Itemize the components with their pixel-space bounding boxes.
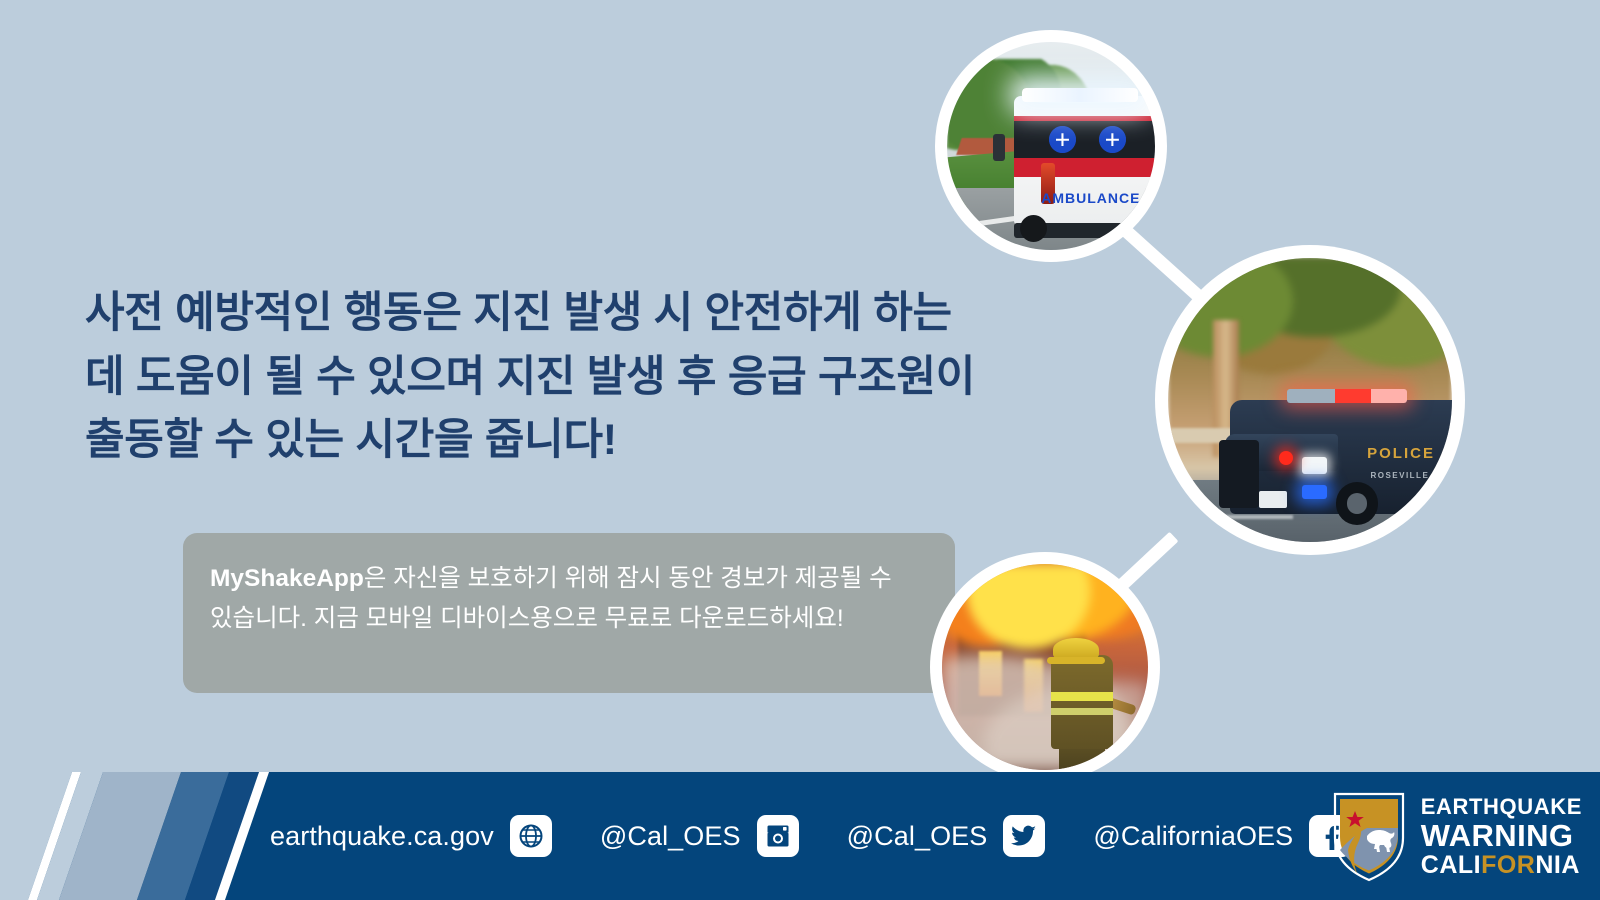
photo-circle-ambulance: AMBULANCE xyxy=(935,30,1167,262)
twitter-icon[interactable] xyxy=(1003,815,1045,857)
star-of-life-icon xyxy=(1099,126,1126,153)
police-label: POLICE xyxy=(1367,445,1435,462)
photo-circle-firefighter xyxy=(930,552,1160,782)
police-photo: POLICE ROSEVILLE xyxy=(1168,258,1452,542)
app-name: MyShakeApp xyxy=(210,565,364,592)
ambulance-wheel xyxy=(1020,215,1047,242)
spacer xyxy=(568,836,584,837)
logo-cali: CALI xyxy=(1421,851,1481,879)
ambulance-mirror xyxy=(993,134,1005,161)
photo-circle-police: POLICE ROSEVILLE xyxy=(1155,245,1465,555)
poster-canvas: 사전 예방적인 행동은 지진 발생 시 안전하게 하는 데 도움이 될 수 있으… xyxy=(0,0,1600,900)
ambulance-label: AMBULANCE xyxy=(1041,190,1140,206)
footer-handle-instagram[interactable]: @Cal_OES xyxy=(600,821,741,852)
firefighter-jacket xyxy=(1051,655,1113,750)
ambulance-rear-doors xyxy=(1014,121,1155,158)
footer-handle-twitter[interactable]: @Cal_OES xyxy=(847,821,988,852)
police-license-plate xyxy=(1259,491,1287,508)
earthquake-warning-california-logo: EARTHQUAKE WARNING CALIFORNIA xyxy=(1331,786,1582,888)
police-blue-flasher xyxy=(1302,485,1328,499)
police-headlight xyxy=(1302,457,1328,474)
footer-bar: earthquake.ca.gov @Cal_OES xyxy=(0,772,1600,900)
footer-social-row: earthquake.ca.gov @Cal_OES xyxy=(270,772,1351,900)
ambulance-photo: AMBULANCE xyxy=(947,42,1155,250)
callout-box: MyShakeApp은 자신을 보호하기 위해 잠시 동안 경보가 제공될 수 … xyxy=(183,533,955,693)
firefighter-helmet-brim xyxy=(1047,657,1105,664)
police-lightbar xyxy=(1287,389,1406,403)
logo-nia: NIA xyxy=(1535,851,1580,879)
callout-text: MyShakeApp은 자신을 보호하기 위해 잠시 동안 경보가 제공될 수 … xyxy=(210,559,919,638)
logo-line-warning: WARNING xyxy=(1421,820,1582,851)
police-road-marking xyxy=(1179,515,1293,519)
police-push-bar xyxy=(1219,440,1259,508)
police-wheel xyxy=(1336,482,1379,525)
footer-handle-facebook[interactable]: @CaliforniaOES xyxy=(1093,821,1293,852)
ambulance-red-stripe xyxy=(1014,158,1155,177)
ambulance-emergency-lights xyxy=(1022,88,1138,103)
spacer xyxy=(1061,836,1077,837)
firefighter-reflective-stripe xyxy=(1051,708,1113,715)
instagram-icon[interactable] xyxy=(757,815,799,857)
logo-wordmark: EARTHQUAKE WARNING CALIFORNIA xyxy=(1421,796,1582,878)
page-title: 사전 예방적인 행동은 지진 발생 시 안전하게 하는 데 도움이 될 수 있으… xyxy=(85,282,1095,473)
logo-line-earthquake: EARTHQUAKE xyxy=(1421,796,1582,818)
logo-for-accent: FOR xyxy=(1481,851,1535,879)
globe-icon[interactable] xyxy=(510,815,552,857)
firefighter-photo xyxy=(942,564,1148,770)
footer-link-website[interactable]: earthquake.ca.gov xyxy=(270,821,494,852)
logo-line-california: CALIFORNIA xyxy=(1421,853,1582,878)
spacer xyxy=(815,836,831,837)
california-shield-icon xyxy=(1331,790,1407,884)
firefighter-reflective-stripe xyxy=(1051,692,1113,701)
police-sublabel: ROSEVILLE xyxy=(1370,471,1429,480)
